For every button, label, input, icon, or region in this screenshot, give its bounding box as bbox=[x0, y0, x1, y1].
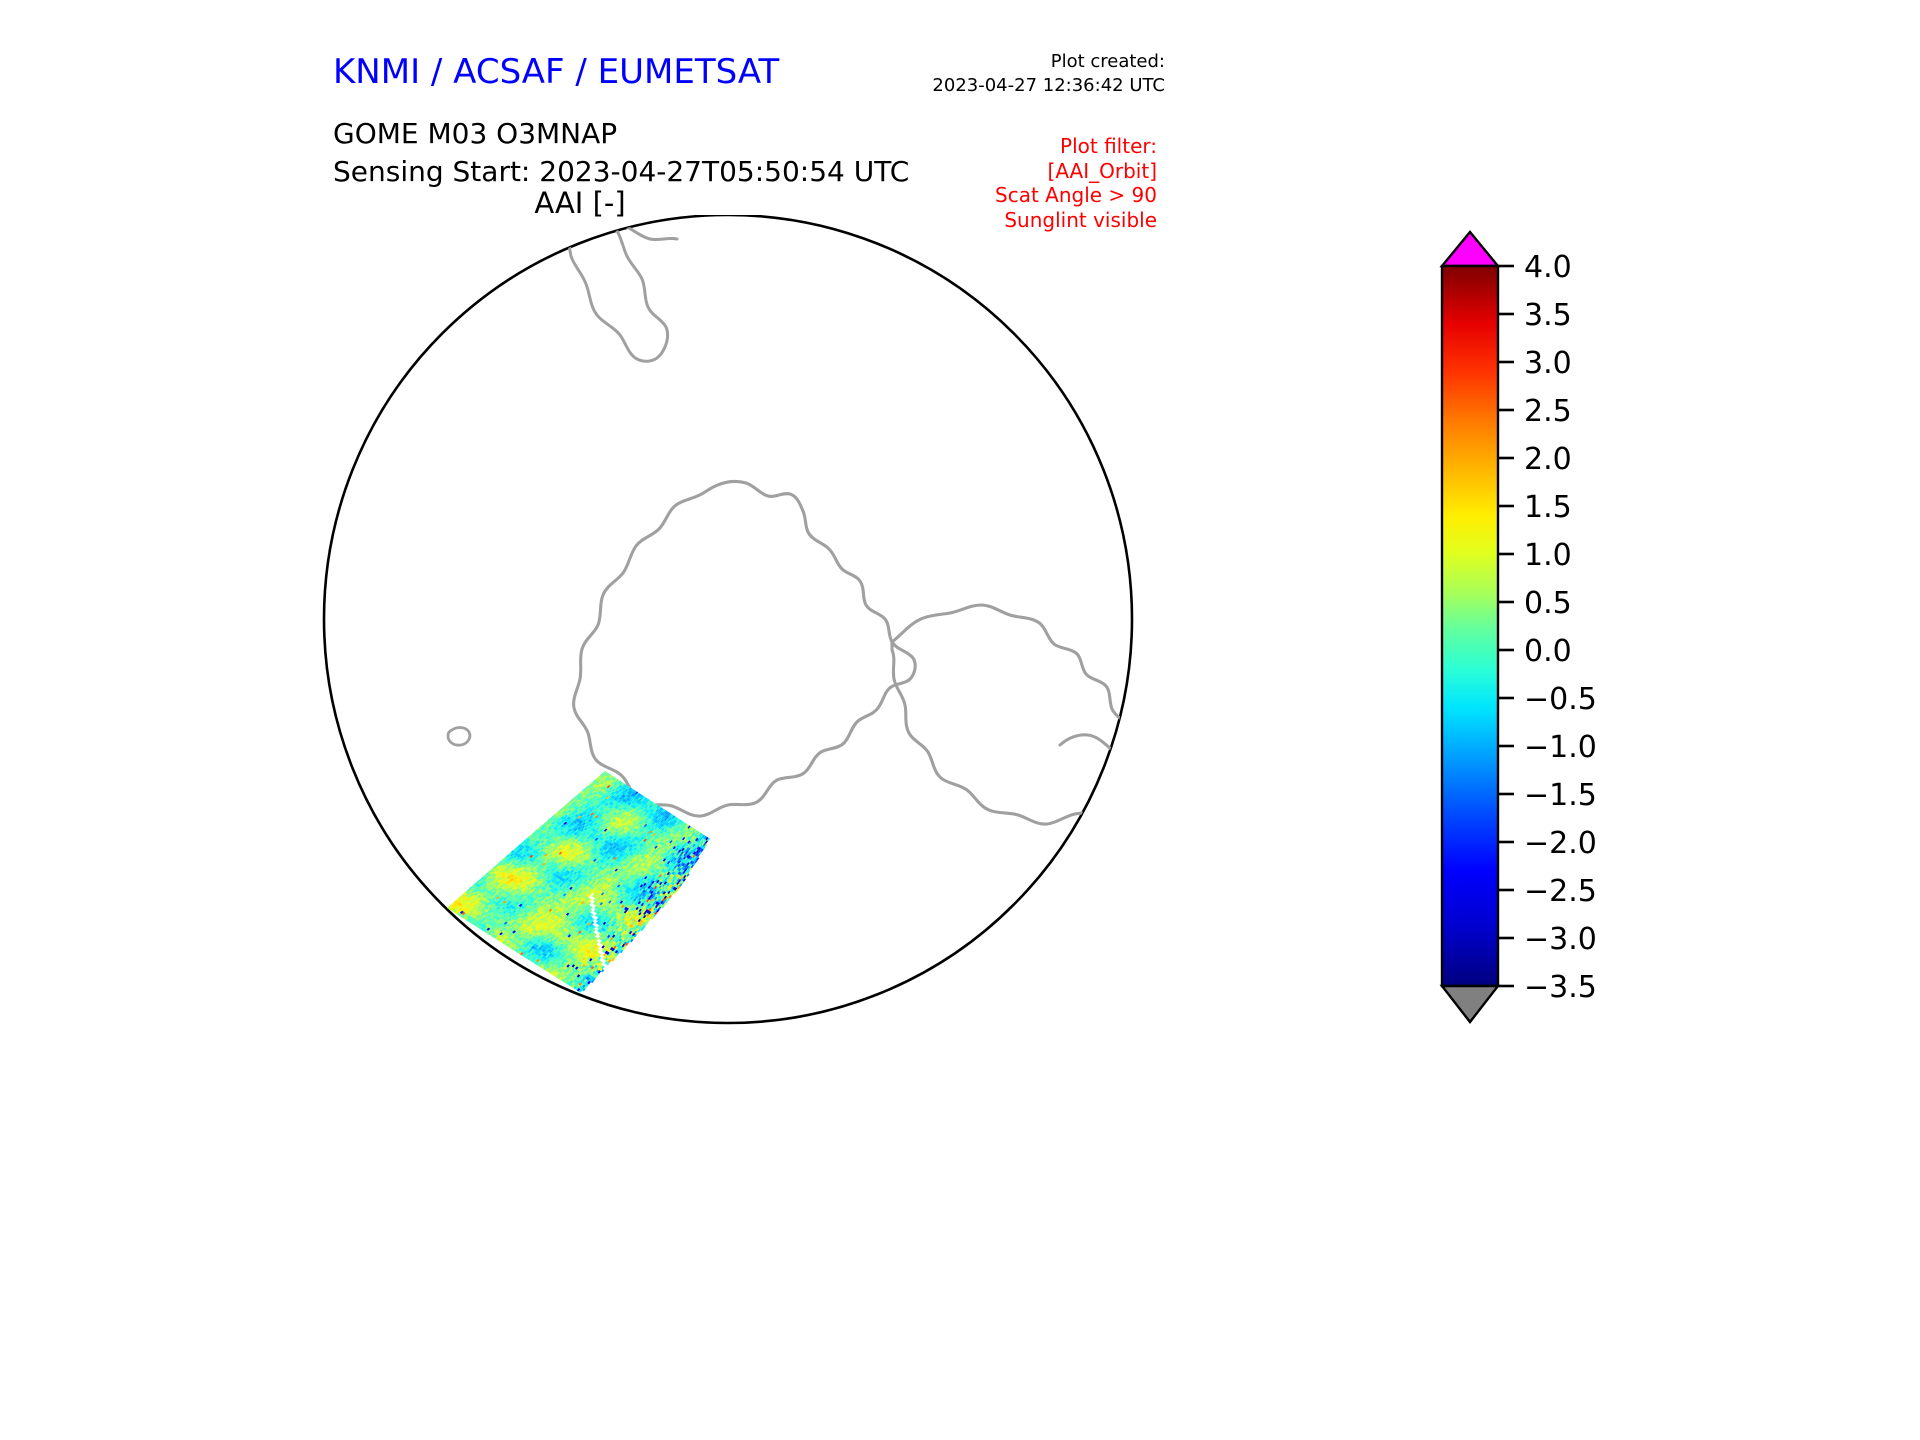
institute-credit-line: KNMI / ACSAF / EUMETSAT bbox=[333, 52, 779, 92]
plot-created-timestamp: 2023-04-27 12:36:42 UTC bbox=[880, 74, 1165, 98]
plot-created-label: Plot created: bbox=[880, 50, 1165, 74]
plot-filter-label: Plot filter: bbox=[860, 134, 1157, 159]
plot-filter-scat-angle: Scat Angle > 90 bbox=[860, 183, 1157, 208]
plot-filter-name: [AAI_Orbit] bbox=[860, 159, 1157, 184]
polar-map bbox=[300, 215, 1180, 1075]
coastline-island-small-3 bbox=[348, 953, 368, 969]
plot-created-block: Plot created: 2023-04-27 12:36:42 UTC bbox=[880, 50, 1165, 98]
product-info-block: GOME M03 O3MNAP Sensing Start: 2023-04-2… bbox=[333, 115, 909, 191]
product-name: GOME M03 O3MNAP bbox=[333, 115, 909, 153]
coastline-island-small-4 bbox=[370, 264, 393, 285]
globe-limb-circle bbox=[324, 215, 1132, 1023]
plot-canvas: KNMI / ACSAF / EUMETSAT Plot created: 20… bbox=[0, 0, 1920, 1440]
coastline-island-small-2 bbox=[403, 295, 437, 325]
